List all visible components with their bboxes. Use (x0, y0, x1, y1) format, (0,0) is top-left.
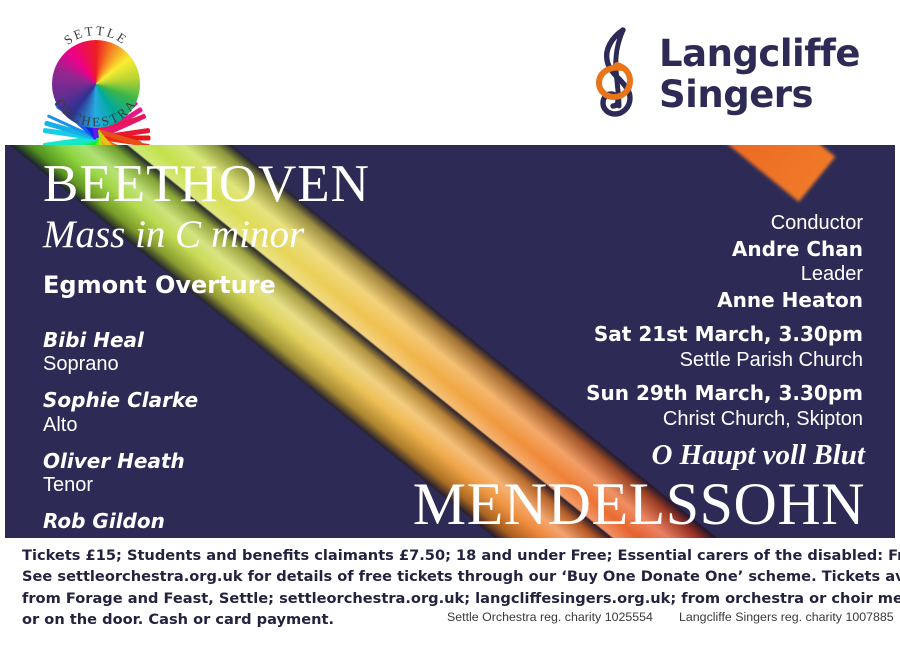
ticket-info-line: See settleorchestra.org.uk for details o… (22, 566, 878, 587)
mendelssohn-block: O Haupt voll Blut MENDELSSOHN (413, 440, 865, 534)
langcliffe-singers-wordmark: Langcliffe Singers (659, 35, 860, 113)
charity-number-orchestra: Settle Orchestra reg. charity 1025554 (447, 610, 653, 624)
composer-name: BEETHOVEN (43, 158, 370, 211)
overture-title: Egmont Overture (43, 271, 370, 299)
main-panel: BEETHOVEN Mass in C minor Egmont Overtur… (5, 145, 895, 538)
soloist-name: Oliver Heath (43, 449, 198, 473)
soloist-entry: Sophie ClarkeAlto (43, 388, 198, 437)
soloist-voice-part: Alto (43, 413, 198, 438)
performance-datetime: Sat 21st March, 3.30pm (586, 321, 863, 347)
poster-footer: Tickets £15; Students and benefits claim… (0, 538, 900, 647)
performance-venue: Settle Parish Church (586, 347, 863, 373)
logo-line-2: Singers (659, 76, 860, 113)
ticket-info-line: Tickets £15; Students and benefits claim… (22, 545, 878, 566)
credit-person: Anne Heaton (717, 288, 863, 314)
ribbon-tip-highlight (465, 145, 836, 202)
soloists-list: Bibi HealSopranoSophie ClarkeAltoOliver … (43, 328, 198, 538)
credits-block: ConductorAndre ChanLeaderAnne Heaton (717, 211, 863, 313)
credit-person: Andre Chan (717, 237, 863, 263)
soloist-name: Sophie Clarke (43, 388, 198, 412)
work-title: Mass in C minor (43, 213, 370, 257)
poster-header: SETTLE ORCHESTRA Langcliffe Singers (0, 0, 900, 145)
logo-line-1: Langcliffe (659, 35, 860, 72)
soloist-voice-part: Tenor (43, 473, 198, 498)
soloist-voice-part: Soprano (43, 352, 198, 377)
soloist-entry: Rob GildonBass (43, 509, 198, 538)
performance-datetime: Sun 29th March, 3.30pm (586, 380, 863, 406)
performance-entry: Sat 21st March, 3.30pmSettle Parish Chur… (586, 321, 863, 373)
langcliffe-singers-logo: Langcliffe Singers (587, 26, 860, 122)
performance-entry: Sun 29th March, 3.30pmChrist Church, Ski… (586, 380, 863, 432)
second-composer-name: MENDELSSOHN (413, 474, 865, 534)
color-wheel-icon (52, 40, 140, 128)
charity-number-singers: Langcliffe Singers reg. charity 1007885 (679, 610, 894, 624)
performance-venue: Christ Church, Skipton (586, 406, 863, 432)
performances-list: Sat 21st March, 3.30pmSettle Parish Chur… (586, 321, 863, 439)
soloist-name: Bibi Heal (43, 328, 198, 352)
credit-role: Leader (717, 262, 863, 288)
soloist-voice-part: Bass (43, 534, 198, 538)
beethoven-block: BEETHOVEN Mass in C minor Egmont Overtur… (43, 158, 370, 299)
settle-orchestra-logo: SETTLE ORCHESTRA (38, 18, 154, 136)
treble-clef-icon (587, 26, 649, 122)
soloist-entry: Oliver HeathTenor (43, 449, 198, 498)
concert-poster: SETTLE ORCHESTRA Langcliffe Singers BEET… (0, 0, 900, 647)
credit-role: Conductor (717, 211, 863, 237)
soloist-name: Rob Gildon (43, 509, 198, 533)
second-work-title: O Haupt voll Blut (413, 440, 865, 472)
ticket-info-line: from Forage and Feast, Settle; settleorc… (22, 588, 878, 609)
soloist-entry: Bibi HealSoprano (43, 328, 198, 377)
